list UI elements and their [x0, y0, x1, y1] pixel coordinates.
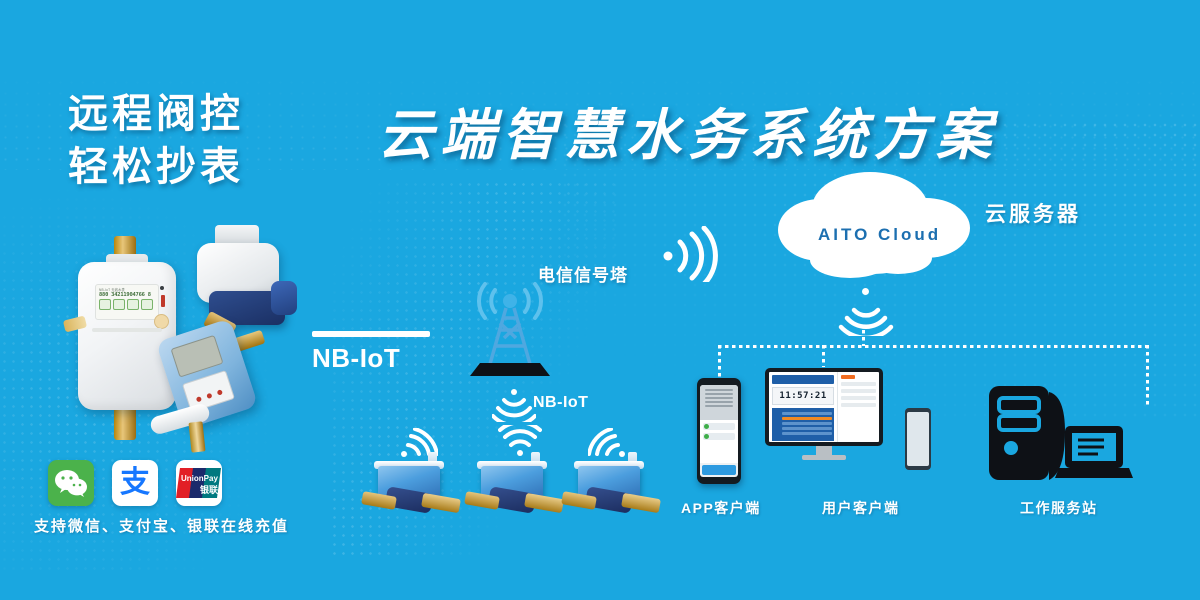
alipay-glyph: 支	[120, 468, 150, 498]
field-meter-1	[370, 458, 466, 516]
monitor-neck	[816, 446, 832, 455]
monitor-screen: 11:57:21	[769, 372, 879, 442]
svg-text:UnionPay: UnionPay	[181, 474, 218, 483]
payment-icons-row: 支 UnionPay 银联	[48, 460, 222, 506]
cloud-server-label: 云服务器	[985, 198, 1081, 228]
connector-drop-app	[718, 345, 721, 377]
wifi-down-icon	[838, 296, 894, 336]
lcd-meter-stem	[188, 421, 205, 452]
meter-led	[160, 286, 164, 290]
cloud-graphic: AITO Cloud	[758, 168, 988, 288]
monitor-row	[841, 403, 876, 407]
poster-canvas: 远程阀控 轻松抄表 云端智慧水务系统方案 AITO Cloud 云服务器	[0, 0, 1200, 600]
meter-bracket	[63, 316, 87, 333]
monitor-tree-panel	[772, 408, 834, 441]
phone-screen	[700, 385, 738, 477]
monitor-clock: 11:57:21	[772, 387, 834, 405]
phone-screen-header	[700, 385, 738, 420]
cloud-anchor-dot	[862, 288, 869, 295]
monitor-right-pane	[837, 372, 879, 442]
monitor-accent-bar	[841, 375, 855, 379]
nbiot-primary-text: NB-IoT	[312, 343, 430, 374]
valve-meter-end-cap	[271, 281, 297, 315]
headline-block: 远程阀控 轻松抄表	[68, 88, 338, 194]
monitor-header-bar	[772, 375, 834, 384]
meter-screen-number: 880 34211904766 8	[99, 292, 158, 298]
unionpay-glyph-icon: UnionPay 银联	[176, 466, 222, 500]
monitor-base	[802, 455, 846, 460]
water-meter-lcd	[150, 318, 280, 458]
user-client-monitor[interactable]: 11:57:21	[765, 368, 883, 460]
field-meter-2	[473, 458, 569, 516]
connector-cloud-stem	[862, 330, 865, 346]
svg-text:银联: 银联	[200, 484, 219, 495]
connector-drop-ws	[1146, 345, 1149, 405]
page-title: 云端智慧水务系统方案	[378, 90, 998, 170]
lcd-meter-display	[171, 335, 224, 378]
monitor-bezel: 11:57:21	[765, 368, 883, 446]
desktop-tower-icon	[985, 382, 1133, 492]
headline-line-1: 远程阀控	[68, 88, 338, 141]
wechat-glyph-icon	[54, 469, 88, 497]
phone-primary-button[interactable]	[702, 465, 736, 475]
nbiot-primary-label: NB-IoT	[312, 331, 430, 374]
phone2-screen	[907, 412, 929, 466]
monitor-left-pane: 11:57:21	[769, 372, 837, 442]
phone-screen-list	[700, 420, 738, 463]
meter-battery-indicator	[161, 295, 165, 307]
wifi-right-icon	[660, 226, 722, 282]
app-client-phone[interactable]	[697, 378, 741, 484]
wechat-pay-icon[interactable]	[48, 460, 94, 506]
headline-line-2: 轻松抄表	[68, 141, 338, 194]
wifi-down-small-icon	[492, 388, 536, 422]
client-label-user: 用户客户端	[822, 498, 900, 518]
nbiot-underline-bar	[312, 331, 430, 337]
connector-bus	[718, 345, 1148, 348]
workstation-graphic[interactable]	[985, 382, 1133, 497]
monitor-row	[841, 396, 876, 400]
user-client-phone-small[interactable]	[905, 408, 931, 470]
connector-drop-pc	[822, 345, 825, 367]
unionpay-icon[interactable]: UnionPay 银联	[176, 460, 222, 506]
client-label-workstation: 工作服务站	[1020, 498, 1098, 518]
payment-caption: 支持微信、支付宝、银联在线充值	[34, 515, 289, 536]
wifi-icon-meter-3	[588, 428, 628, 458]
field-meter-3	[570, 458, 666, 516]
tower-label: 电信信号塔	[538, 261, 628, 286]
monitor-row	[841, 382, 876, 386]
meter-screen-indicators	[99, 299, 158, 310]
meter-screen: NB-IoT 无线水表 880 34211904766 8	[95, 284, 159, 320]
nbiot-secondary-label: NB-IoT	[533, 394, 588, 412]
monitor-row	[841, 389, 876, 393]
client-label-app: APP客户端	[681, 498, 761, 518]
cloud-label: AITO Cloud	[818, 225, 941, 245]
alipay-icon[interactable]: 支	[112, 460, 158, 506]
